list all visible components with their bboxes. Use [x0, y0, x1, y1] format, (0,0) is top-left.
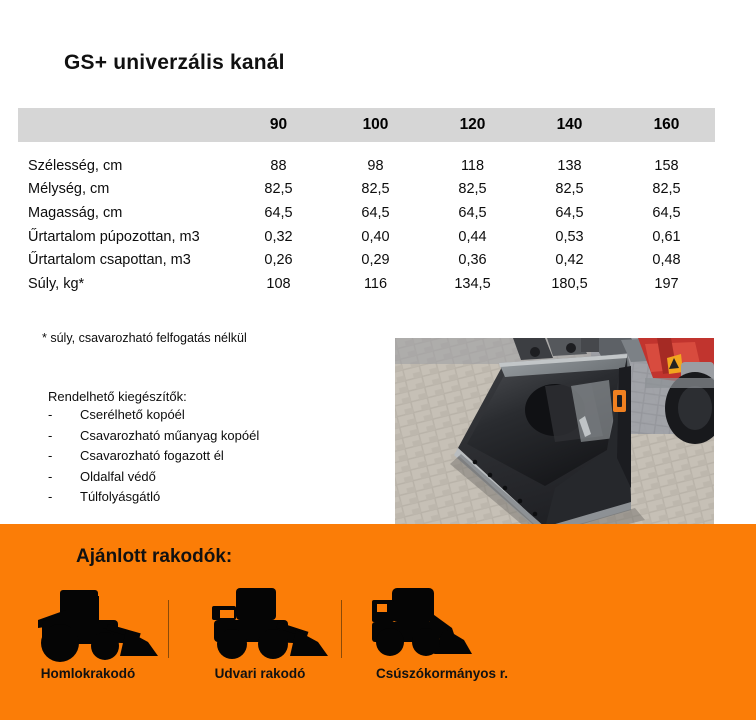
row-label: Súly, kg* [18, 272, 230, 296]
column-header-90: 90 [230, 108, 327, 142]
loader-icon-row: Homlokrakodó Udvari rakodó [0, 586, 756, 706]
list-item-label: Oldalfal védő [80, 469, 156, 484]
cell: 0,44 [424, 225, 521, 249]
cell: 0,61 [618, 225, 715, 249]
cell: 0,42 [521, 248, 618, 272]
yard-loader-icon [180, 586, 340, 662]
spec-table-header-row: 90 100 120 140 160 [18, 108, 715, 142]
row-label: Mélység, cm [18, 178, 230, 202]
accessories-block: Rendelhető kiegészítők: - Cserélhető kop… [48, 389, 259, 510]
cell: 0,40 [327, 225, 424, 249]
product-photo-image [395, 338, 714, 546]
cell: 64,5 [521, 201, 618, 225]
cell: 134,5 [424, 272, 521, 296]
cell: 0,53 [521, 225, 618, 249]
list-item-label: Túlfolyásgátló [80, 489, 160, 504]
accessories-title: Rendelhető kiegészítők: [48, 389, 259, 404]
spec-table-head: 90 100 120 140 160 [18, 108, 715, 142]
bullet-dash: - [48, 428, 80, 443]
skid-steer-loader-icon [352, 586, 532, 662]
cell: 138 [521, 142, 618, 178]
list-item: - Csavarozható fogazott él [48, 448, 259, 469]
cell: 64,5 [424, 201, 521, 225]
cell: 197 [618, 272, 715, 296]
list-item: - Csavarozható műanyag kopóél [48, 428, 259, 449]
table-row: Súly, kg* 108 116 134,5 180,5 197 [18, 272, 715, 296]
column-header-100: 100 [327, 108, 424, 142]
cell: 180,5 [521, 272, 618, 296]
cell: 64,5 [327, 201, 424, 225]
bullet-dash: - [48, 407, 80, 422]
column-header-120: 120 [424, 108, 521, 142]
list-item: - Oldalfal védő [48, 469, 259, 490]
table-footnote: * súly, csavarozható felfogatás nélkül [42, 331, 247, 345]
cell: 88 [230, 142, 327, 178]
loader-label: Homlokrakodó [8, 666, 168, 681]
cell: 82,5 [327, 178, 424, 202]
loader-label: Csúszókormányos r. [352, 666, 532, 681]
table-row: Űrtartalom csapottan, m3 0,26 0,29 0,36 … [18, 248, 715, 272]
spec-table-body: Szélesség, cm 88 98 118 138 158 Mélység,… [18, 142, 715, 296]
cell: 116 [327, 272, 424, 296]
wheel-loader-icon [8, 586, 168, 662]
cell: 118 [424, 142, 521, 178]
cell: 0,29 [327, 248, 424, 272]
list-item-label: Cserélhető kopóél [80, 407, 185, 422]
accessories-list: - Cserélhető kopóél - Csavarozható műany… [48, 407, 259, 510]
footer-title: Ajánlott rakodók: [76, 546, 232, 568]
recommended-loaders-footer: Ajánlott rakodók: Homlokrakodó [0, 524, 756, 720]
loader-item-csuszokormanyos[interactable]: Csúszókormányos r. [352, 586, 532, 681]
cell: 64,5 [618, 201, 715, 225]
table-row: Szélesség, cm 88 98 118 138 158 [18, 142, 715, 178]
row-label: Űrtartalom púpozottan, m3 [18, 225, 230, 249]
spec-table: 90 100 120 140 160 Szélesség, cm 88 98 1… [18, 108, 715, 296]
cell: 0,26 [230, 248, 327, 272]
row-label: Űrtartalom csapottan, m3 [18, 248, 230, 272]
cell: 82,5 [618, 178, 715, 202]
list-item-label: Csavarozható fogazott él [80, 448, 224, 463]
bullet-dash: - [48, 448, 80, 463]
loader-divider [341, 600, 342, 658]
cell: 64,5 [230, 201, 327, 225]
list-item-label: Csavarozható műanyag kopóél [80, 428, 259, 443]
column-header-140: 140 [521, 108, 618, 142]
cell: 0,32 [230, 225, 327, 249]
loader-label: Udvari rakodó [180, 666, 340, 681]
list-item: - Túlfolyásgátló [48, 489, 259, 510]
loader-item-udvari-rakodo[interactable]: Udvari rakodó [180, 586, 340, 681]
loader-item-homlokrakodo[interactable]: Homlokrakodó [8, 586, 168, 681]
cell: 82,5 [521, 178, 618, 202]
column-header-label [18, 108, 230, 142]
bullet-dash: - [48, 489, 80, 504]
list-item: - Cserélhető kopóél [48, 407, 259, 428]
cell: 82,5 [424, 178, 521, 202]
row-label: Szélesség, cm [18, 142, 230, 178]
bullet-dash: - [48, 469, 80, 484]
cell: 0,36 [424, 248, 521, 272]
product-photo [395, 338, 714, 546]
page-title: GS+ univerzális kanál [64, 51, 285, 75]
cell: 108 [230, 272, 327, 296]
row-label: Magasság, cm [18, 201, 230, 225]
table-row: Mélység, cm 82,5 82,5 82,5 82,5 82,5 [18, 178, 715, 202]
cell: 158 [618, 142, 715, 178]
cell: 98 [327, 142, 424, 178]
table-row: Űrtartalom púpozottan, m3 0,32 0,40 0,44… [18, 225, 715, 249]
loader-divider [168, 600, 169, 658]
cell: 0,48 [618, 248, 715, 272]
table-row: Magasság, cm 64,5 64,5 64,5 64,5 64,5 [18, 201, 715, 225]
cell: 82,5 [230, 178, 327, 202]
column-header-160: 160 [618, 108, 715, 142]
